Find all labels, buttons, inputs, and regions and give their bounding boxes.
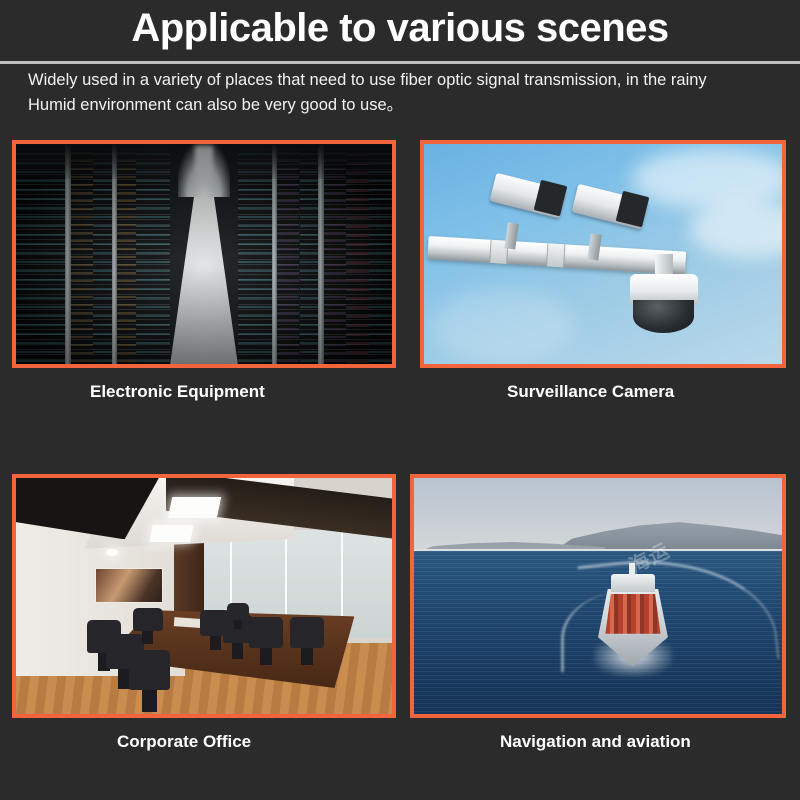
- photo-vignette: [16, 144, 392, 364]
- cctv-cameras-on-pole-photo: [424, 144, 782, 364]
- office-chair: [133, 608, 163, 632]
- container-ship-at-sea-photo: 海运: [414, 478, 782, 714]
- scene-caption-corporate-office: Corporate Office: [117, 732, 251, 752]
- scene-card-navigation-aviation: 海运 Navigation and aviation: [410, 474, 786, 762]
- data-center-server-aisle-photo: [16, 144, 392, 364]
- office-illustration: [16, 478, 392, 714]
- data-center-illustration: [16, 144, 392, 364]
- conference-room-meeting-table-photo: [16, 478, 392, 714]
- ceiling-panel-light: [168, 497, 221, 518]
- scene-grid: Electronic Equipment: [0, 0, 800, 800]
- scene-card-corporate-office: Corporate Office: [12, 474, 396, 762]
- scene-caption-electronic-equipment: Electronic Equipment: [90, 382, 265, 402]
- sea-illustration: 海运: [414, 478, 782, 714]
- ceiling-panel-light: [150, 525, 195, 542]
- cloud: [431, 289, 574, 364]
- scene-caption-surveillance-camera: Surveillance Camera: [507, 382, 674, 402]
- photo-frame-navigation-aviation: 海运: [410, 474, 786, 718]
- office-chair: [129, 650, 170, 690]
- office-chair: [249, 617, 283, 648]
- photo-frame-surveillance-camera: [420, 140, 786, 368]
- scene-card-electronic-equipment: Electronic Equipment: [12, 140, 396, 400]
- scene-card-surveillance-camera: Surveillance Camera: [420, 140, 786, 400]
- shipping-containers: [605, 594, 660, 634]
- scene-caption-navigation-aviation: Navigation and aviation: [500, 732, 691, 752]
- ship-mast: [629, 563, 635, 577]
- office-chair: [227, 603, 250, 620]
- photo-frame-corporate-office: [12, 474, 396, 718]
- office-chair: [290, 617, 324, 648]
- wall-artwork: [95, 568, 163, 603]
- ceiling-spot-light: [106, 549, 117, 556]
- photo-frame-electronic-equipment: [12, 140, 396, 368]
- pole-band: [545, 244, 564, 268]
